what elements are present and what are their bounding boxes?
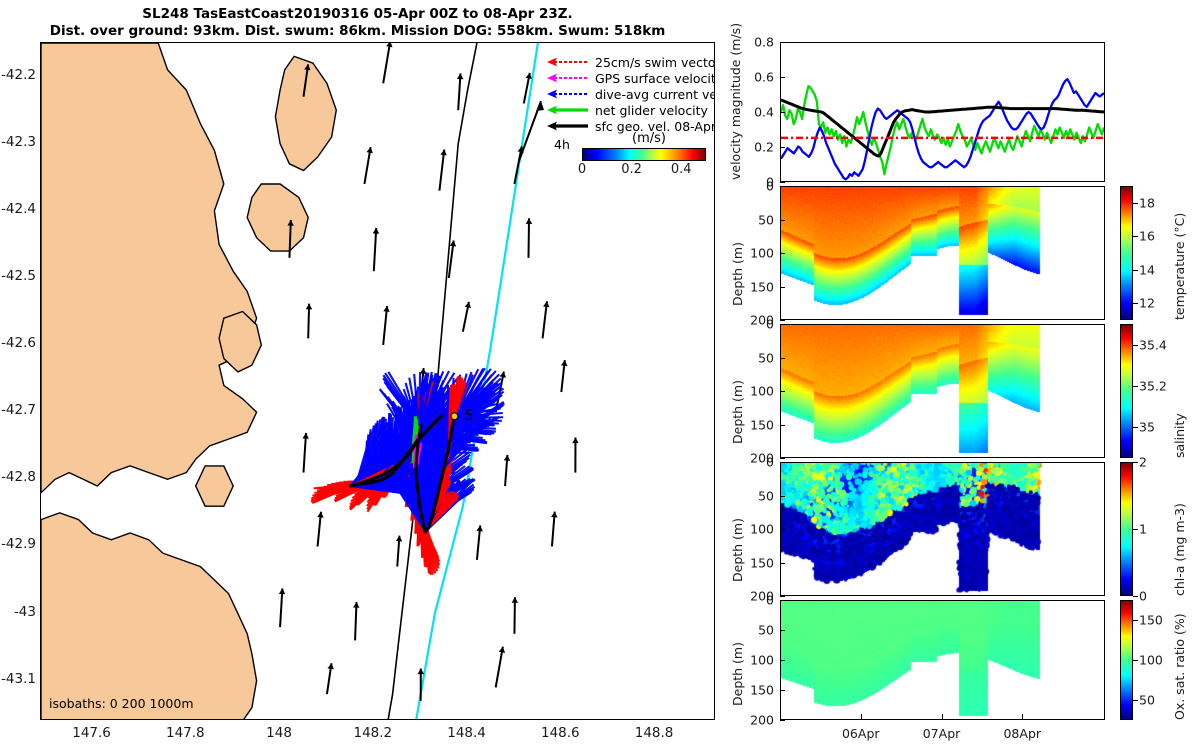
legend-item-label: 25cm/s swim vector	[595, 55, 715, 70]
title-line-1: SL248 TasEastCoast20190316 05-Apr 00Z to…	[0, 6, 715, 23]
salinity-section-colorbar	[1120, 324, 1133, 458]
temperature-section-image	[781, 187, 1104, 319]
geostrophic-current-arrow	[317, 512, 323, 547]
chlorophyll-a-section-panel[interactable]	[780, 462, 1105, 596]
colorbar-tick	[1133, 620, 1138, 621]
dive-number-label: 5	[464, 408, 473, 424]
colorbar-tick	[1133, 270, 1138, 271]
y-tick-label: 50	[734, 488, 774, 503]
colorbar-tick	[1133, 700, 1138, 701]
figure-title: SL248 TasEastCoast20190316 05-Apr 00Z to…	[0, 6, 715, 40]
y-tick-label: 0	[734, 317, 774, 332]
colorbar-tick	[1133, 462, 1138, 463]
geostrophic-current-arrow	[364, 147, 372, 184]
colorbar-tick-label: 150	[1139, 613, 1163, 628]
oxygen-saturation-section-image	[781, 601, 1104, 719]
y-tick	[780, 324, 785, 325]
map-lat-tick-label: -43	[0, 604, 36, 620]
y-tick	[780, 42, 785, 43]
velocity-axis-label: velocity magnitude (m/s)	[728, 23, 743, 180]
y-tick	[780, 496, 785, 497]
y-tick	[780, 425, 785, 426]
colorbar-tick-label: 12	[1139, 296, 1155, 311]
map-lat-tick-label: -42.8	[0, 469, 36, 485]
geostrophic-current-arrow	[504, 455, 510, 486]
geostrophic-current-arrow	[476, 525, 482, 559]
time-tick	[1022, 714, 1023, 720]
geostrophic-current-arrow	[327, 663, 334, 694]
geostrophic-current-arrow	[551, 512, 557, 547]
y-tick	[780, 596, 785, 597]
map-colorbar-tick-label: 0	[578, 162, 586, 177]
y-tick	[780, 253, 785, 254]
map-lon-tick-label: 148.4	[447, 725, 486, 741]
y-tick	[780, 720, 785, 721]
y-tick	[780, 112, 785, 113]
legend-arrow-icon	[546, 71, 590, 85]
y-tick	[780, 147, 785, 148]
y-tick	[780, 529, 785, 530]
y-tick	[780, 391, 785, 392]
map-legend: 25cm/s swim vectorGPS surface velocitydi…	[546, 54, 715, 134]
geostrophic-current-arrow	[512, 597, 518, 634]
land-mainland	[41, 43, 257, 493]
y-tick	[780, 563, 785, 564]
colorbar-tick-label: 35	[1139, 420, 1155, 435]
y-tick	[780, 182, 785, 183]
map-lon-tick-label: 148.6	[541, 725, 580, 741]
map-lon-tick-label: 148.8	[635, 725, 674, 741]
map-colorbar: (m/s) 00.20.4	[574, 131, 715, 177]
land-peninsula-2	[196, 466, 234, 506]
colorbar-tick	[1133, 345, 1138, 346]
y-tick-label: 50	[734, 350, 774, 365]
temperature-section-colorbar	[1120, 186, 1133, 320]
legend-item-label: GPS surface velocity	[595, 71, 715, 86]
map-lon-tick-label: 147.8	[166, 725, 205, 741]
map-colorbar-tick-label: 0.2	[621, 162, 642, 177]
time-scale-arrow	[519, 101, 544, 161]
map-panel[interactable]: 5 isobaths: 0 200 1000m 25cm/s swim vect…	[40, 42, 715, 720]
velocity-timeseries-panel[interactable]	[780, 42, 1105, 182]
colorbar-tick	[1133, 660, 1138, 661]
y-tick-label: 0	[734, 455, 774, 470]
oxygen-saturation-section-colorbar-title: Ox. sat. ratio (%)	[1172, 613, 1187, 720]
colorbar-tick	[1133, 236, 1138, 237]
map-lon-tick-label: 148	[266, 725, 292, 741]
time-tick	[942, 714, 943, 720]
geostrophic-current-arrow	[572, 438, 579, 473]
y-tick	[780, 600, 785, 601]
geostrophic-current-arrow	[279, 588, 285, 627]
legend-item-label: dive-avg current veloc.	[595, 87, 715, 102]
chlorophyll-a-section-colorbar	[1120, 462, 1133, 596]
temperature-section-axis-label: Depth (m)	[730, 242, 745, 306]
oxygen-saturation-section-axis-label: Depth (m)	[730, 642, 745, 706]
colorbar-tick-label: 50	[1139, 693, 1155, 708]
map-lon-tick-label: 148.2	[353, 725, 392, 741]
series-sfc-geo-velocity	[781, 100, 1104, 156]
salinity-section-axis-label: Depth (m)	[730, 380, 745, 444]
y-tick-label: 0	[734, 179, 774, 194]
title-line-2: Dist. over ground: 93km. Dist. swum: 86k…	[0, 23, 715, 40]
map-colorbar-gradient	[582, 148, 706, 161]
track-end-marker	[451, 413, 458, 420]
legend-item-dive-avg-current: dive-avg current veloc.	[546, 86, 715, 102]
geostrophic-current-arrow	[353, 602, 359, 640]
colorbar-tick-label: 0	[1139, 589, 1147, 604]
map-lat-tick-label: -42.2	[0, 67, 36, 83]
geostrophic-current-arrow	[543, 301, 550, 338]
geostrophic-current-arrow	[526, 218, 532, 258]
oxygen-saturation-section-colorbar	[1120, 600, 1133, 720]
colorbar-tick-label: 18	[1139, 195, 1155, 210]
map-lat-tick-label: -42.3	[0, 134, 36, 150]
y-tick	[780, 220, 785, 221]
legend-item-label: net glider velocity	[595, 103, 708, 118]
geostrophic-current-arrow	[396, 536, 402, 567]
map-lat-tick-label: -42.4	[0, 201, 36, 217]
land-south	[41, 513, 257, 720]
y-tick	[780, 186, 785, 187]
colorbar-tick-label: 35.4	[1139, 337, 1167, 352]
y-tick	[780, 630, 785, 631]
colorbar-tick	[1133, 529, 1138, 530]
map-lon-tick-label: 147.6	[72, 725, 111, 741]
legend-arrow-icon	[546, 55, 590, 69]
chlorophyll-a-section-image	[781, 463, 1104, 595]
legend-item-net-glider-velocity: net glider velocity	[546, 102, 715, 118]
chlorophyll-a-section-axis-label: Depth (m)	[730, 518, 745, 582]
salinity-section-image	[781, 325, 1104, 457]
map-lat-tick-label: -42.6	[0, 335, 36, 351]
oxygen-saturation-section-panel[interactable]	[780, 600, 1105, 720]
geostrophic-current-arrow	[561, 360, 567, 392]
time-tick-label: 07Apr	[923, 726, 961, 741]
legend-arrow-icon	[546, 103, 590, 117]
geostrophic-current-arrow	[457, 73, 463, 110]
glider-mission-figure: SL248 TasEastCoast20190316 05-Apr 00Z to…	[0, 0, 1200, 750]
y-tick	[780, 320, 785, 321]
time-scale-label: 4h	[554, 137, 570, 152]
colorbar-tick-label: 35.2	[1139, 378, 1167, 393]
geostrophic-current-arrow	[306, 304, 312, 339]
y-tick	[780, 358, 785, 359]
colorbar-tick-label: 14	[1139, 262, 1155, 277]
glider-velocity-vectors	[311, 368, 504, 575]
map-lat-tick-label: -42.5	[0, 268, 36, 284]
geostrophic-current-arrow	[383, 306, 390, 345]
y-tick-label: 50	[734, 623, 774, 638]
isobath-note: isobaths: 0 200 1000m	[49, 696, 194, 711]
y-tick	[780, 77, 785, 78]
salinity-section-panel[interactable]	[780, 324, 1105, 458]
colorbar-tick	[1133, 596, 1138, 597]
velocity-plot	[781, 43, 1105, 182]
map-colorbar-ticks: 00.20.4	[582, 161, 706, 177]
legend-item-gps-surface-velocity: GPS surface velocity	[546, 70, 715, 86]
y-tick-label: 0	[734, 593, 774, 608]
geostrophic-current-arrow	[463, 302, 471, 332]
colorbar-tick	[1133, 427, 1138, 428]
map-lat-tick-label: -42.7	[0, 402, 36, 418]
y-tick	[780, 660, 785, 661]
legend-item-swim-vector: 25cm/s swim vector	[546, 54, 715, 70]
y-tick-label: 50	[734, 212, 774, 227]
colorbar-tick	[1133, 203, 1138, 204]
colorbar-tick-label: 16	[1139, 229, 1155, 244]
colorbar-tick-label: 100	[1139, 653, 1163, 668]
map-colorbar-tick-label: 0.4	[671, 162, 692, 177]
map-lat-tick-label: -43.1	[0, 671, 36, 687]
salinity-section-colorbar-title: salinity	[1172, 413, 1187, 458]
y-tick	[780, 287, 785, 288]
colorbar-tick	[1133, 386, 1138, 387]
temperature-section-panel[interactable]	[780, 186, 1105, 320]
y-tick	[780, 462, 785, 463]
map-lat-tick-label: -42.9	[0, 536, 36, 552]
time-tick	[861, 714, 862, 720]
map-colorbar-title: (m/s)	[574, 131, 715, 146]
time-tick-label: 08Apr	[1003, 726, 1041, 741]
colorbar-tick-label: 1	[1139, 522, 1147, 537]
geostrophic-current-arrow	[383, 43, 392, 83]
y-tick-label: 200	[734, 713, 774, 728]
geostrophic-current-arrow	[496, 647, 505, 688]
y-tick	[780, 458, 785, 459]
geostrophic-current-arrow	[373, 228, 379, 271]
chlorophyll-a-section-colorbar-title: chl-a (mg m-3)	[1172, 503, 1187, 596]
colorbar-tick	[1133, 303, 1138, 304]
y-tick	[780, 690, 785, 691]
land-maria-south	[247, 184, 308, 251]
legend-arrow-icon	[546, 87, 590, 101]
colorbar-tick-label: 2	[1139, 455, 1147, 470]
geostrophic-current-arrow	[302, 433, 308, 473]
temperature-section-colorbar-title: temperature (°C)	[1172, 213, 1187, 320]
time-tick-label: 06Apr	[842, 726, 880, 741]
geostrophic-current-arrow	[439, 149, 446, 190]
